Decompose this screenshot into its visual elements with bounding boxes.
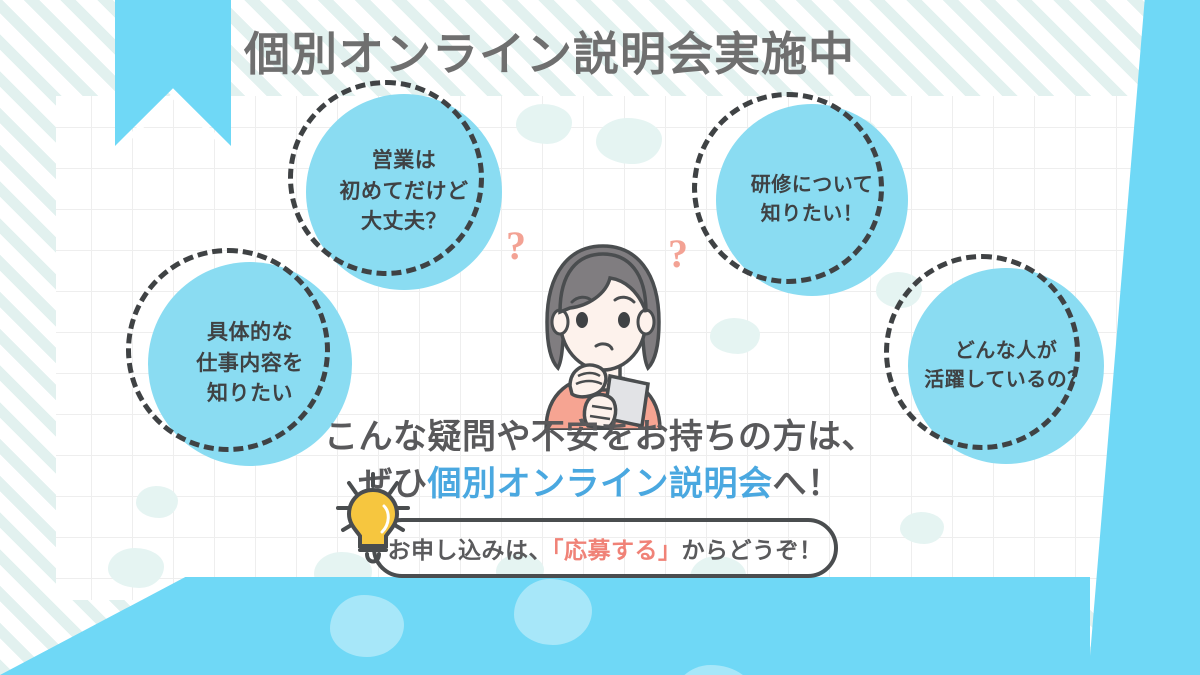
ribbon-inner-chevron: [121, 72, 225, 144]
poster-canvas: 個別オンライン説明会実施中 営業は 初めてだけど 大丈夫？ 具体的な 仕事内容を…: [0, 0, 1200, 675]
decorative-blob: [514, 579, 592, 645]
bubble-line: 初めてだけど: [340, 177, 469, 207]
apply-callout-text: お申し込みは、「応募する」からどうぞ！: [388, 531, 823, 565]
apply-prefix: お申し込みは、: [388, 537, 553, 563]
bubble-line: 仕事内容を: [196, 349, 304, 379]
page-title: 個別オンライン説明会実施中: [244, 18, 855, 84]
bubble-sales[interactable]: 営業は 初めてだけど 大丈夫？: [306, 94, 502, 290]
decorative-blob: [710, 318, 760, 354]
decorative-blob: [672, 665, 756, 675]
decorative-blob: [596, 118, 662, 164]
apply-label[interactable]: 「応募する」: [552, 537, 682, 563]
bubble-line: 研修について: [751, 171, 873, 200]
lightbulb-icon: [336, 472, 410, 566]
message-suffix: へ！: [773, 465, 842, 503]
bubble-line: 知りたい: [207, 379, 293, 409]
message-highlight: 個別オンライン説明会: [428, 465, 773, 503]
bubble-sales-text: 営業は 初めてだけど 大丈夫？: [306, 94, 502, 290]
bubble-line: どんな人が: [955, 337, 1058, 366]
bubble-line: 知りたい！: [761, 200, 864, 229]
apply-callout[interactable]: お申し込みは、「応募する」からどうぞ！: [372, 518, 838, 578]
bubble-training-text: 研修について 知りたい！: [716, 104, 908, 296]
bubble-line: 営業は: [372, 146, 437, 176]
message-line-1: こんな疑問や不安をお持ちの方は、: [0, 414, 1200, 461]
bubble-line: 活躍しているの？: [924, 366, 1087, 395]
thinking-woman-illustration: [514, 236, 692, 428]
decorative-blob: [900, 512, 944, 544]
decorative-blob: [330, 595, 404, 657]
bottom-accent-band: [0, 577, 1090, 675]
bubble-line: 大丈夫？: [361, 207, 447, 237]
decorative-blob: [516, 104, 572, 144]
bubble-training[interactable]: 研修について 知りたい！: [716, 104, 908, 296]
message-line-2: ぜひ個別オンライン説明会へ！: [0, 461, 1200, 508]
apply-suffix: からどうぞ！: [682, 537, 823, 563]
bubble-line: 具体的な: [207, 318, 293, 348]
main-message: こんな疑問や不安をお持ちの方は、 ぜひ個別オンライン説明会へ！: [0, 414, 1200, 508]
decorative-blob: [108, 548, 164, 588]
